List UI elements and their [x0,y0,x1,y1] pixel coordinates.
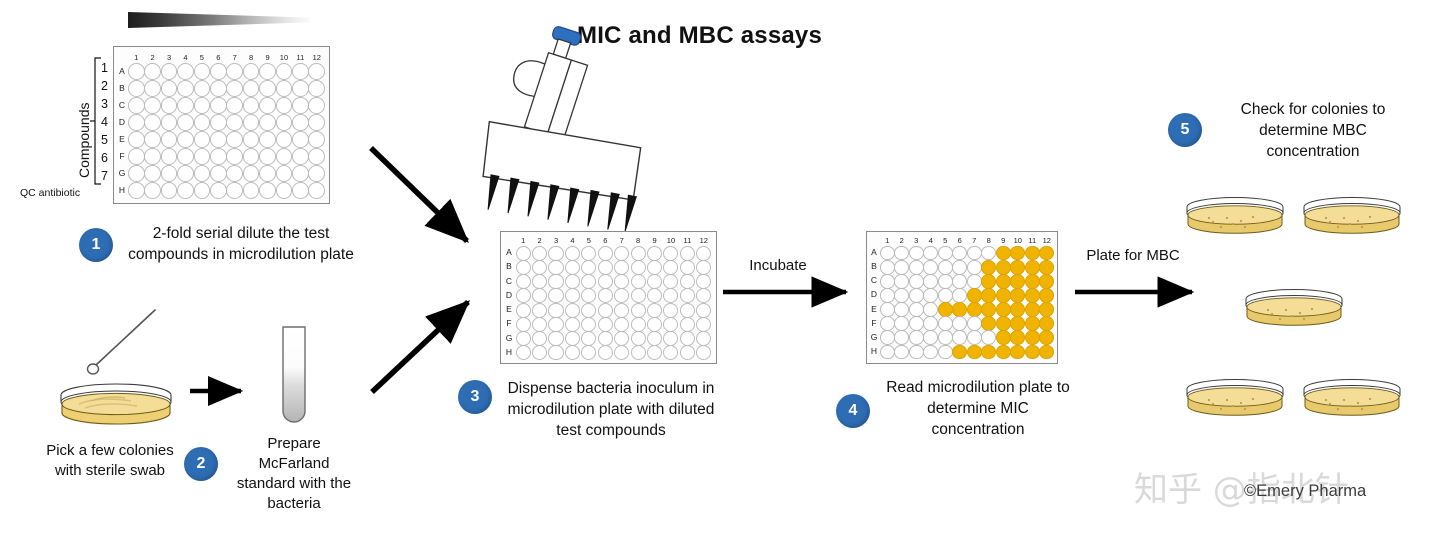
plate-well[interactable] [210,165,227,182]
plate-well[interactable] [1025,345,1040,360]
plate-well[interactable] [631,246,646,261]
plate-well[interactable] [243,114,260,131]
plate-well[interactable] [308,165,325,182]
plate-well[interactable] [1025,288,1040,303]
plate-well[interactable] [516,260,531,275]
plate-well[interactable] [1010,288,1025,303]
plate-well[interactable] [259,182,276,199]
plate-well[interactable] [565,274,580,289]
plate-well[interactable] [647,331,662,346]
plate-well[interactable] [981,330,996,345]
plate-well[interactable] [292,114,309,131]
plate-well[interactable] [516,274,531,289]
plate-well[interactable] [516,303,531,318]
plate-well[interactable] [581,260,596,275]
plate-well[interactable] [532,246,547,261]
plate-well[interactable] [680,260,695,275]
plate-well[interactable] [128,97,145,114]
plate-well[interactable] [532,274,547,289]
plate-well[interactable] [909,330,924,345]
plate-well[interactable] [1039,316,1054,331]
plate-well[interactable] [128,165,145,182]
plate-well[interactable] [696,345,711,360]
plate-well[interactable] [938,260,953,275]
plate-well[interactable] [909,302,924,317]
plate-well[interactable] [996,330,1011,345]
plate-well[interactable] [631,317,646,332]
plate-well[interactable] [548,288,563,303]
plate-well[interactable] [696,260,711,275]
plate-well[interactable] [614,331,629,346]
plate-well[interactable] [663,288,678,303]
plate-well[interactable] [161,97,178,114]
plate-well[interactable] [996,302,1011,317]
plate-well[interactable] [1010,246,1025,261]
plate-well[interactable] [923,288,938,303]
plate-well[interactable] [909,260,924,275]
plate-well[interactable] [938,330,953,345]
plate-well[interactable] [1010,302,1025,317]
plate-well[interactable] [581,288,596,303]
plate-well[interactable] [996,345,1011,360]
plate-well[interactable] [938,246,953,261]
plate-well[interactable] [967,246,982,261]
plate-well[interactable] [952,260,967,275]
plate-well[interactable] [647,246,662,261]
plate-well[interactable] [996,274,1011,289]
plate-well[interactable] [177,131,194,148]
plate-well[interactable] [923,302,938,317]
plate-well[interactable] [276,182,293,199]
plate-well[interactable] [952,345,967,360]
plate-well[interactable] [663,317,678,332]
plate-well[interactable] [614,246,629,261]
plate-well[interactable] [548,260,563,275]
plate-well[interactable] [532,260,547,275]
plate-well[interactable] [631,274,646,289]
plate-well[interactable] [894,330,909,345]
plate-well[interactable] [194,165,211,182]
plate-well[interactable] [144,114,161,131]
plate-well[interactable] [894,302,909,317]
plate-well[interactable] [614,345,629,360]
plate-well[interactable] [647,303,662,318]
plate-well[interactable] [938,288,953,303]
plate-well[interactable] [967,260,982,275]
plate-well[interactable] [598,274,613,289]
plate-well[interactable] [161,80,178,97]
plate-well[interactable] [647,345,662,360]
plate-well[interactable] [259,148,276,165]
plate-well[interactable] [1025,316,1040,331]
plate-well[interactable] [226,131,243,148]
plate-well[interactable] [308,63,325,80]
plate-well[interactable] [1039,288,1054,303]
plate-well[interactable] [532,317,547,332]
plate-well[interactable] [144,182,161,199]
plate-well[interactable] [581,274,596,289]
plate-well[interactable] [516,246,531,261]
plate-well[interactable] [696,246,711,261]
plate-well[interactable] [128,80,145,97]
microdilution-plate-mic-read[interactable]: 123456789101112ABCDEFGH [866,231,1058,364]
plate-well[interactable] [210,97,227,114]
mbc-colony-plate[interactable] [1300,196,1404,240]
plate-well[interactable] [981,260,996,275]
plate-well[interactable] [161,148,178,165]
plate-well[interactable] [680,317,695,332]
plate-well[interactable] [1039,260,1054,275]
plate-well[interactable] [226,97,243,114]
plate-well[interactable] [967,330,982,345]
plate-well[interactable] [581,246,596,261]
plate-well[interactable] [598,331,613,346]
plate-well[interactable] [243,63,260,80]
plate-well[interactable] [663,331,678,346]
plate-well[interactable] [259,114,276,131]
plate-well[interactable] [952,246,967,261]
plate-well[interactable] [909,316,924,331]
plate-well[interactable] [276,80,293,97]
plate-well[interactable] [565,303,580,318]
plate-well[interactable] [952,302,967,317]
plate-well[interactable] [631,303,646,318]
plate-well[interactable] [308,148,325,165]
plate-well[interactable] [967,345,982,360]
plate-well[interactable] [952,316,967,331]
plate-well[interactable] [292,182,309,199]
plate-well[interactable] [292,148,309,165]
plate-well[interactable] [516,331,531,346]
plate-well[interactable] [177,148,194,165]
plate-well[interactable] [614,303,629,318]
plate-well[interactable] [565,260,580,275]
plate-well[interactable] [981,316,996,331]
plate-well[interactable] [614,288,629,303]
plate-well[interactable] [128,148,145,165]
plate-well[interactable] [548,317,563,332]
plate-well[interactable] [259,97,276,114]
mbc-colony-plate[interactable] [1300,378,1404,422]
plate-well[interactable] [680,345,695,360]
plate-well[interactable] [631,260,646,275]
plate-well[interactable] [952,288,967,303]
plate-well[interactable] [144,165,161,182]
plate-well[interactable] [923,330,938,345]
plate-well[interactable] [161,131,178,148]
plate-well[interactable] [226,182,243,199]
plate-well[interactable] [614,317,629,332]
plate-well[interactable] [177,114,194,131]
plate-well[interactable] [259,63,276,80]
plate-well[interactable] [996,316,1011,331]
plate-well[interactable] [1010,316,1025,331]
plate-well[interactable] [210,114,227,131]
plate-well[interactable] [894,274,909,289]
plate-well[interactable] [308,114,325,131]
plate-well[interactable] [1039,345,1054,360]
plate-well[interactable] [1025,330,1040,345]
plate-well[interactable] [1039,330,1054,345]
plate-well[interactable] [663,303,678,318]
plate-well[interactable] [308,131,325,148]
plate-well[interactable] [996,260,1011,275]
microdilution-plate-blank[interactable]: 123456789101112ABCDEFGH [113,46,330,204]
plate-well[interactable] [276,114,293,131]
plate-well[interactable] [548,246,563,261]
plate-well[interactable] [516,288,531,303]
plate-well[interactable] [226,165,243,182]
plate-well[interactable] [144,97,161,114]
plate-well[interactable] [292,165,309,182]
plate-well[interactable] [581,317,596,332]
plate-well[interactable] [981,274,996,289]
plate-well[interactable] [680,303,695,318]
plate-well[interactable] [565,246,580,261]
plate-well[interactable] [548,331,563,346]
plate-well[interactable] [923,274,938,289]
plate-well[interactable] [631,331,646,346]
plate-well[interactable] [128,63,145,80]
plate-well[interactable] [226,114,243,131]
qc-antibiotic-label: QC antibiotic [20,187,80,199]
mbc-colony-plate[interactable] [1183,196,1287,240]
plate-well[interactable] [194,80,211,97]
plate-well[interactable] [210,80,227,97]
plate-well[interactable] [647,288,662,303]
plate-well[interactable] [647,260,662,275]
plate-well[interactable] [894,260,909,275]
plate-well[interactable] [996,288,1011,303]
plate-well[interactable] [967,288,982,303]
plate-well[interactable] [292,80,309,97]
plate-well[interactable] [696,317,711,332]
plate-well[interactable] [276,148,293,165]
plate-well[interactable] [923,260,938,275]
plate-well[interactable] [967,316,982,331]
plate-well[interactable] [967,302,982,317]
plate-well[interactable] [581,303,596,318]
plate-well[interactable] [663,345,678,360]
plate-well[interactable] [276,165,293,182]
plate-well[interactable] [981,246,996,261]
plate-well[interactable] [614,260,629,275]
plate-well[interactable] [292,63,309,80]
plate-well[interactable] [210,148,227,165]
plate-well[interactable] [532,331,547,346]
plate-well[interactable] [894,288,909,303]
plate-well[interactable] [144,63,161,80]
plate-well[interactable] [177,165,194,182]
plate-well[interactable] [598,288,613,303]
plate-well[interactable] [996,246,1011,261]
plate-well[interactable] [923,246,938,261]
plate-well[interactable] [1025,246,1040,261]
plate-well[interactable] [144,80,161,97]
plate-well[interactable] [880,330,895,345]
plate-well[interactable] [981,345,996,360]
mbc-colony-plate[interactable] [1242,288,1346,332]
plate-well[interactable] [516,345,531,360]
plate-well[interactable] [516,317,531,332]
plate-well[interactable] [226,80,243,97]
plate-well[interactable] [194,97,211,114]
plate-well[interactable] [128,182,145,199]
plate-well[interactable] [880,260,895,275]
plate-well[interactable] [598,345,613,360]
plate-well[interactable] [226,148,243,165]
plate-well[interactable] [565,317,580,332]
plate-well[interactable] [128,131,145,148]
plate-well[interactable] [938,316,953,331]
plate-well[interactable] [144,131,161,148]
plate-well[interactable] [1039,246,1054,261]
plate-well[interactable] [663,274,678,289]
plate-well[interactable] [243,148,260,165]
plate-well[interactable] [259,80,276,97]
plate-well[interactable] [292,131,309,148]
plate-well[interactable] [194,131,211,148]
plate-well[interactable] [909,246,924,261]
mbc-colony-plate[interactable] [1183,378,1287,422]
plate-well[interactable] [210,182,227,199]
plate-well[interactable] [1010,260,1025,275]
plate-well[interactable] [276,63,293,80]
plate-well[interactable] [1039,302,1054,317]
plate-well[interactable] [894,316,909,331]
plate-well[interactable] [680,331,695,346]
plate-well[interactable] [308,97,325,114]
plate-well[interactable] [663,260,678,275]
plate-well[interactable] [680,274,695,289]
plate-well[interactable] [880,288,895,303]
plate-well[interactable] [565,288,580,303]
plate-well[interactable] [548,303,563,318]
plate-well[interactable] [696,331,711,346]
plate-well[interactable] [1025,274,1040,289]
plate-well[interactable] [243,97,260,114]
plate-well[interactable] [880,246,895,261]
plate-well[interactable] [598,303,613,318]
plate-well[interactable] [276,97,293,114]
plate-well[interactable] [308,182,325,199]
plate-well[interactable] [161,182,178,199]
plate-well[interactable] [880,316,895,331]
plate-well[interactable] [880,345,895,360]
plate-well[interactable] [598,317,613,332]
plate-well[interactable] [161,63,178,80]
plate-well[interactable] [923,316,938,331]
plate-well[interactable] [1039,274,1054,289]
plate-well[interactable] [923,345,938,360]
plate-well[interactable] [631,288,646,303]
plate-well[interactable] [194,114,211,131]
plate-well[interactable] [532,345,547,360]
plate-well[interactable] [243,182,260,199]
plate-well[interactable] [680,288,695,303]
plate-well[interactable] [243,80,260,97]
plate-well[interactable] [292,97,309,114]
plate-well[interactable] [581,331,596,346]
plate-well[interactable] [276,131,293,148]
microdilution-plate-inoculated[interactable]: 123456789101112ABCDEFGH [500,231,717,364]
plate-well[interactable] [981,288,996,303]
plate-well[interactable] [177,182,194,199]
plate-well[interactable] [1010,345,1025,360]
plate-well[interactable] [880,274,895,289]
plate-column-header: 8 [243,53,259,62]
plate-well[interactable] [194,148,211,165]
plate-well[interactable] [194,63,211,80]
plate-well[interactable] [598,246,613,261]
plate-well[interactable] [243,165,260,182]
plate-well[interactable] [581,345,596,360]
plate-well[interactable] [565,331,580,346]
plate-well[interactable] [194,182,211,199]
plate-well[interactable] [909,274,924,289]
plate-well[interactable] [981,302,996,317]
plate-well[interactable] [259,131,276,148]
plate-well[interactable] [177,97,194,114]
plate-column-header: 7 [967,236,982,245]
plate-well[interactable] [967,274,982,289]
plate-well[interactable] [1025,260,1040,275]
plate-well[interactable] [938,345,953,360]
plate-well[interactable] [598,260,613,275]
plate-well[interactable] [909,288,924,303]
streaked-agar-plate [57,382,175,430]
plate-well[interactable] [894,345,909,360]
plate-well[interactable] [680,246,695,261]
plate-well[interactable] [177,80,194,97]
plate-well[interactable] [631,345,646,360]
plate-well[interactable] [938,302,953,317]
plate-well[interactable] [226,63,243,80]
plate-well[interactable] [128,114,145,131]
plate-well[interactable] [952,330,967,345]
plate-well[interactable] [663,246,678,261]
plate-well[interactable] [952,274,967,289]
plate-well[interactable] [938,274,953,289]
plate-well[interactable] [308,80,325,97]
plate-well[interactable] [1025,302,1040,317]
plate-well[interactable] [259,165,276,182]
plate-well[interactable] [161,165,178,182]
plate-well[interactable] [177,63,194,80]
plate-well[interactable] [161,114,178,131]
plate-well[interactable] [243,131,260,148]
plate-well[interactable] [532,303,547,318]
plate-well[interactable] [210,131,227,148]
plate-well[interactable] [696,274,711,289]
plate-well[interactable] [647,274,662,289]
plate-well[interactable] [1010,330,1025,345]
plate-well[interactable] [647,317,662,332]
plate-well[interactable] [548,274,563,289]
plate-well[interactable] [532,288,547,303]
plate-well[interactable] [614,274,629,289]
plate-well[interactable] [1010,274,1025,289]
plate-well[interactable] [565,345,580,360]
plate-well[interactable] [696,303,711,318]
plate-well[interactable] [144,148,161,165]
plate-well[interactable] [548,345,563,360]
plate-well[interactable] [696,288,711,303]
plate-well[interactable] [210,63,227,80]
plate-well[interactable] [909,345,924,360]
plate-well[interactable] [894,246,909,261]
plate-well[interactable] [880,302,895,317]
